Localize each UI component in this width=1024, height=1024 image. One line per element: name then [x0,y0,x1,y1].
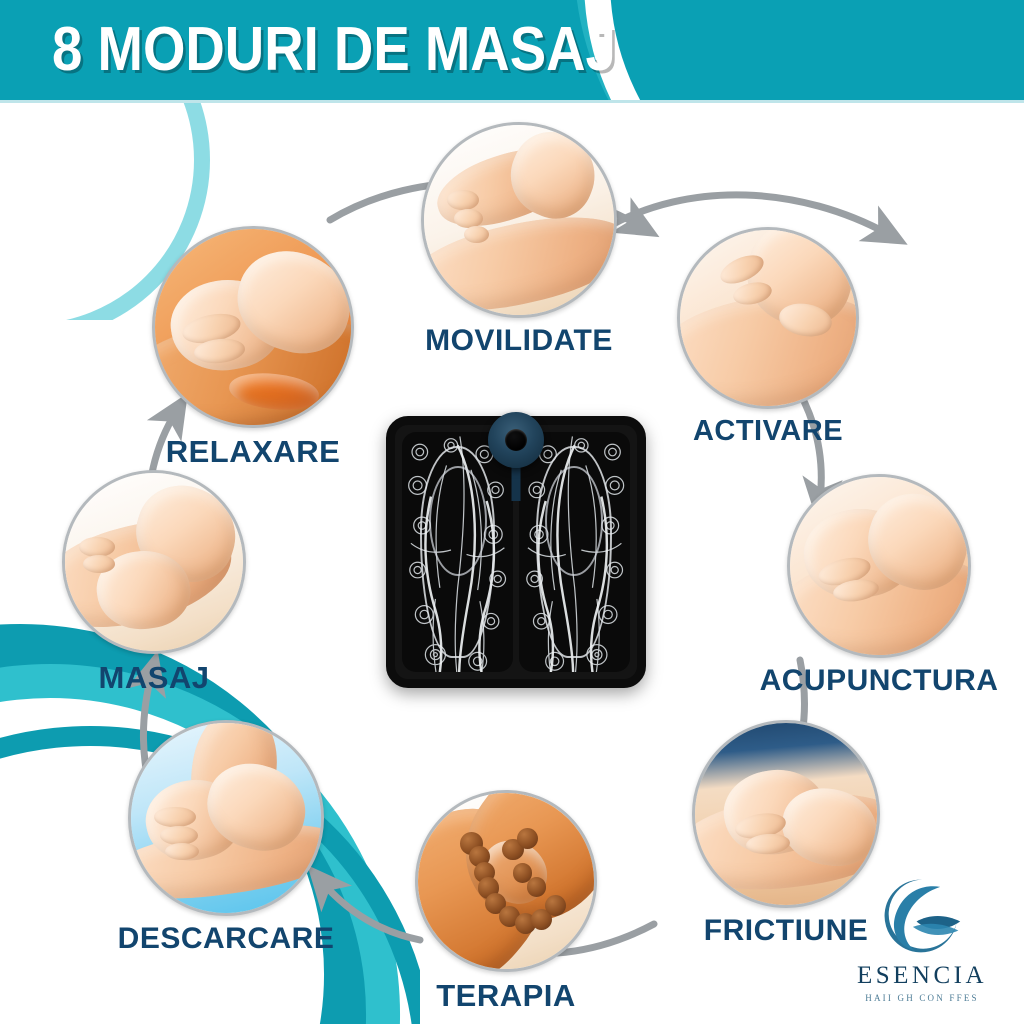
device-stem [512,467,521,501]
cycle-label-descarcare: DESCARCARE [118,922,335,956]
arrow-terapia-to-descarcare [322,882,420,940]
logo-tagline: HAII GH CON FFES [836,993,1008,1003]
photo-descarcare [128,720,324,916]
electrode-pad-left [402,432,513,672]
photo-activare [677,227,859,409]
photo-scene [155,229,351,425]
cycle-node-acupunctura[interactable]: ACUPUNCTURA [787,474,971,658]
cycle-label-movilidate: MOVILIDATE [425,324,613,358]
cycle-node-descarcare[interactable]: DESCARCARE [128,720,324,916]
electrode-pad-right [519,432,630,672]
header-banner: 8 MODURI DE MASAJ [0,0,1024,100]
center-device[interactable] [386,416,646,688]
photo-movilidate [421,122,617,318]
wave-circle-logo-icon [876,876,968,956]
photo-scene [790,477,968,655]
photo-relaxare [152,226,354,428]
brand-logo: ESENCIA HAII GH CON FFES [836,876,1008,1008]
logo-wordmark: ESENCIA [836,962,1008,990]
photo-scene [131,723,321,913]
cycle-node-relaxare[interactable]: RELAXARE [152,226,354,428]
cycle-label-masaj: MASAJ [98,660,209,696]
cycle-node-activare[interactable]: ACTIVARE [677,227,859,409]
photo-scene [418,793,594,969]
cycle-label-relaxare: RELAXARE [166,434,341,470]
cycle-label-acupunctura: ACUPUNCTURA [760,664,999,698]
page-title: 8 MODURI DE MASAJ [52,14,616,86]
power-button-icon[interactable] [488,412,544,468]
photo-terapia [415,790,597,972]
foot-shape-inner [545,466,603,576]
header-divider [0,100,1024,103]
cycle-label-activare: ACTIVARE [693,415,843,448]
cycle-node-terapia[interactable]: TERAPIA [415,790,597,972]
photo-scene [424,125,614,315]
infographic-poster: 8 MODURI DE MASAJ [0,0,1024,1024]
cycle-label-terapia: TERAPIA [436,978,576,1014]
cycle-node-movilidate[interactable]: MOVILIDATE [421,122,617,318]
header-swoosh-white [565,0,1024,100]
foot-shape-inner [429,466,487,576]
photo-scene [680,230,856,406]
photo-masaj [62,470,246,654]
photo-acupunctura [787,474,971,658]
cycle-node-masaj[interactable]: MASAJ [62,470,246,654]
photo-scene [65,473,243,651]
